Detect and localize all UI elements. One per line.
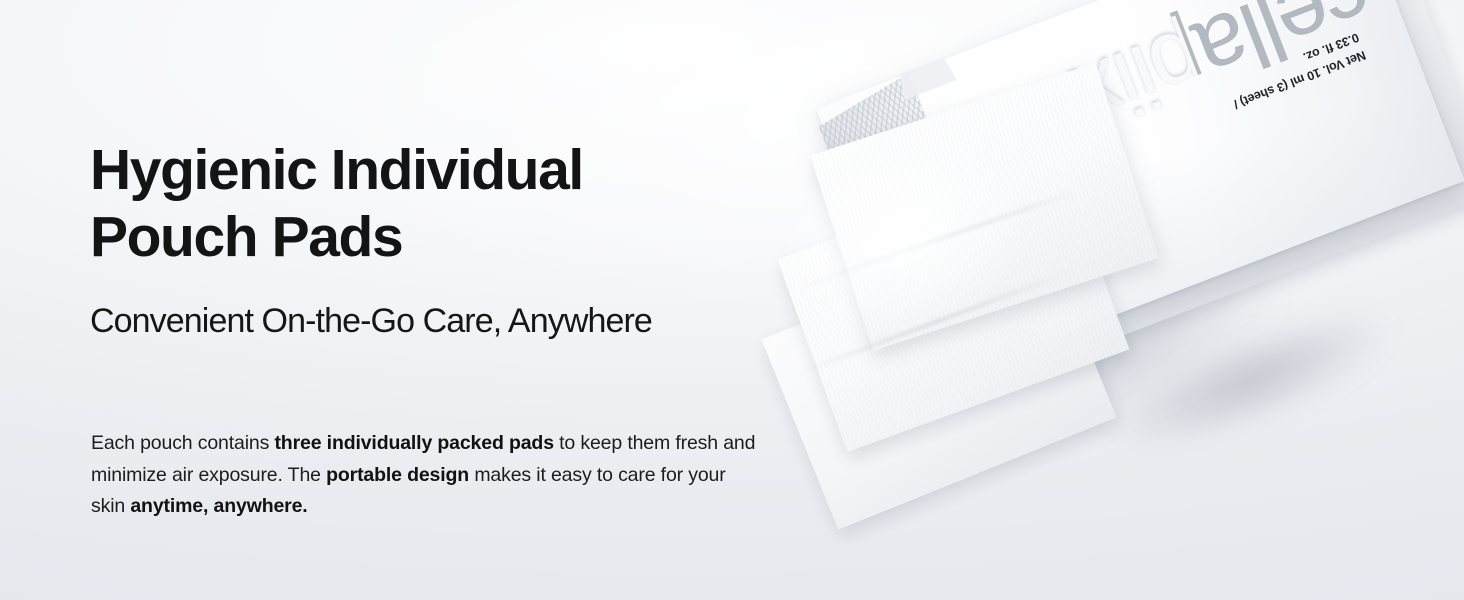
- body-emphasis-2: portable design: [326, 464, 469, 486]
- page-title: Hygienic Individual Pouch Pads: [90, 137, 780, 270]
- body-text-segment-1: Each pouch contains: [91, 432, 274, 454]
- body-paragraph: Each pouch contains three individually p…: [91, 428, 756, 523]
- body-emphasis-1: three individually packed pads: [274, 432, 553, 454]
- body-emphasis-3: anytime, anywhere.: [130, 495, 307, 517]
- copy-column: Hygienic Individual Pouch Pads Convenien…: [90, 0, 790, 600]
- product-photo: cellapiix cellapiix Net Vol. 10 ml (3 sh…: [735, 0, 1464, 600]
- page-subtitle: Convenient On-the-Go Care, Anywhere: [90, 300, 790, 343]
- promo-banner: cellapiix cellapiix Net Vol. 10 ml (3 sh…: [0, 0, 1464, 600]
